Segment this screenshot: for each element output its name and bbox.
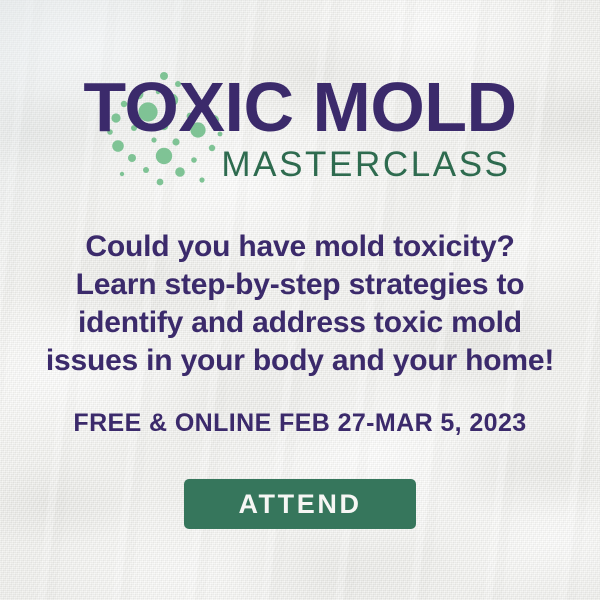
logo-title: TOXIC MOLD	[0, 72, 600, 142]
cta-container: ATTEND	[184, 479, 416, 529]
logo-subtitle: MASTERCLASS	[0, 147, 600, 182]
headline-line-4: issues in your body and your home!	[0, 342, 600, 380]
promo-banner: TOXIC MOLD MASTERCLASS Could you have mo…	[0, 0, 600, 600]
event-dateline: FREE & ONLINE FEB 27-MAR 5, 2023	[0, 408, 600, 438]
logo: TOXIC MOLD MASTERCLASS	[0, 72, 600, 192]
headline-line-2: Learn step-by-step strategies to	[0, 266, 600, 304]
headline-line-1: Could you have mold toxicity?	[0, 228, 600, 266]
attend-button[interactable]: ATTEND	[184, 479, 416, 529]
headline: Could you have mold toxicity? Learn step…	[0, 228, 600, 380]
headline-line-3: identify and address toxic mold	[0, 304, 600, 342]
